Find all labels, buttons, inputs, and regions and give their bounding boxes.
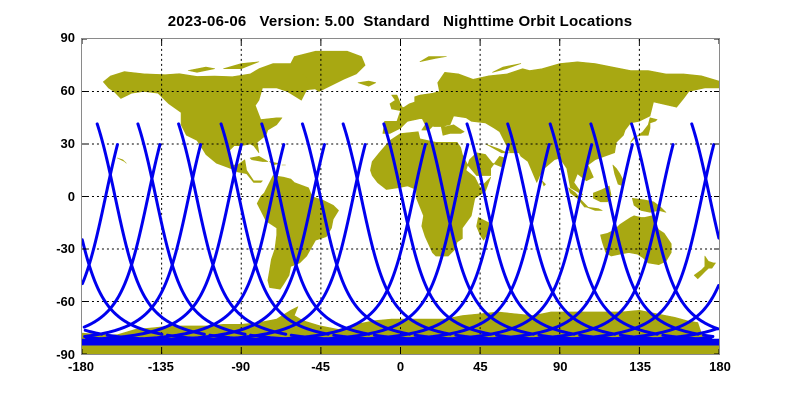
orbit-map-figure: 2023-06-06 Version: 5.00 Standard Nightt… (0, 0, 800, 400)
map-canvas (82, 39, 719, 354)
y-tick-label: -60 (35, 294, 75, 309)
y-tick-label: 0 (35, 189, 75, 204)
x-tick-label: -90 (211, 359, 271, 374)
page-title: 2023-06-06 Version: 5.00 Standard Nightt… (0, 13, 800, 30)
x-tick-label: 45 (450, 359, 510, 374)
x-tick-label: 0 (371, 359, 431, 374)
y-tick-label: 30 (35, 136, 75, 151)
y-tick-label: 60 (35, 83, 75, 98)
x-tick-label: -180 (51, 359, 111, 374)
y-tick-label: 90 (35, 30, 75, 45)
x-tick-label: -45 (291, 359, 351, 374)
x-tick-label: -135 (131, 359, 191, 374)
x-tick-label: 135 (610, 359, 670, 374)
x-tick-label: 180 (690, 359, 750, 374)
map-plot-area (81, 38, 720, 355)
y-tick-label: -30 (35, 241, 75, 256)
x-tick-label: 90 (530, 359, 590, 374)
